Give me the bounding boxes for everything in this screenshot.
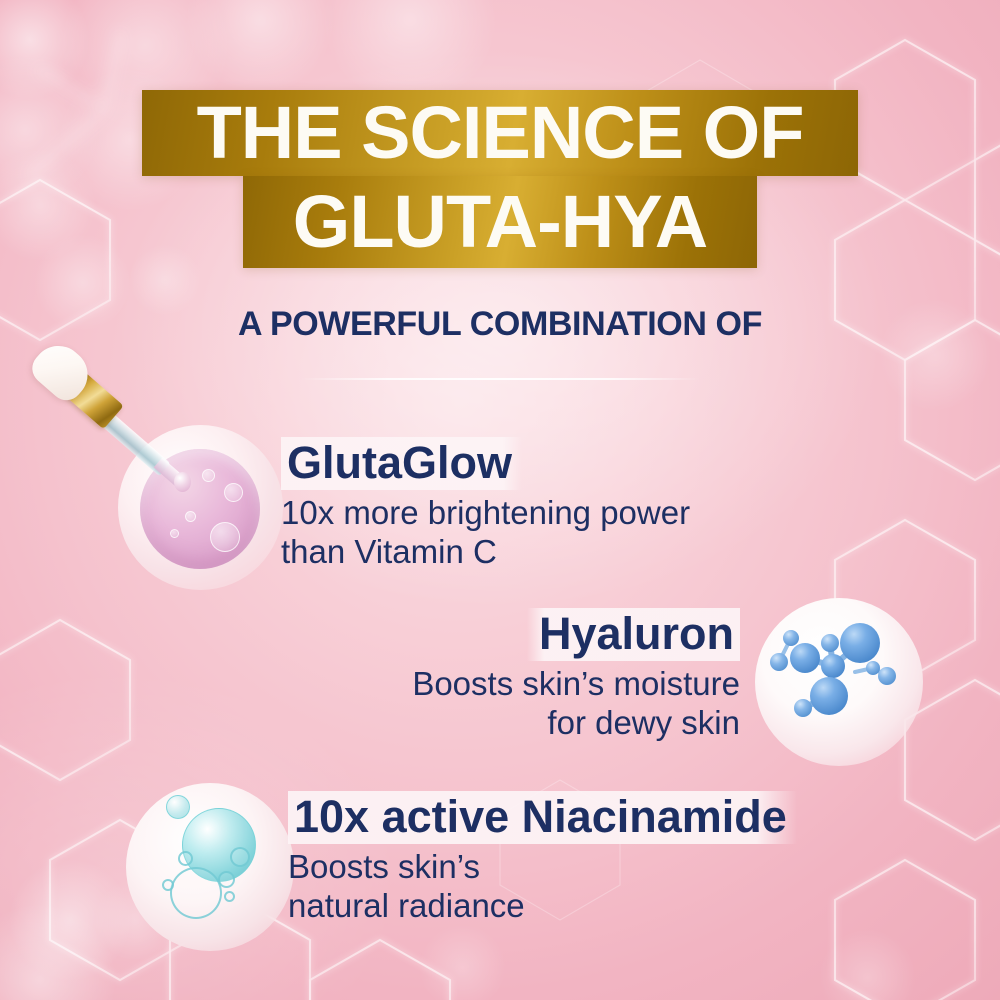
teal-bubble-ring [170,867,222,919]
molecule-atom [790,643,820,673]
molecule-svg [755,598,923,766]
ingredient-block-glutaglow: GlutaGlow 10x more brightening power tha… [281,437,690,571]
dropper-droplet [174,472,191,492]
title-banner-line2: GLUTA-HYA [243,176,757,268]
title-line1-text: THE SCIENCE OF [197,96,804,170]
ingredient-block-hyaluron: Hyaluron Boosts skin’s moisture for dewy… [400,608,740,742]
teal-bubble [166,795,190,819]
title-banner-line1: THE SCIENCE OF [142,90,858,176]
teal-bubble-ring [162,879,174,891]
molecule-atom [783,630,799,646]
teal-bubble-ring [218,871,235,888]
molecule-atom [770,653,788,671]
ingredient-name-glutaglow: GlutaGlow [281,437,522,490]
ingredient-name-niacinamide: 10x active Niacinamide [288,791,797,844]
poster-canvas: THE SCIENCE OF GLUTA-HYA A POWERFUL COMB… [0,0,1000,1000]
ingredient-description-niacinamide: Boosts skin’s natural radiance [288,848,797,925]
molecule-atom [821,654,845,678]
molecule-atom [821,634,839,652]
ingredient-name-hyaluron: Hyaluron [527,608,740,661]
divider-line [300,378,700,380]
ingredient-block-niacinamide: 10x active Niacinamide Boosts skin’s nat… [288,791,797,925]
serum-bubble [170,529,179,538]
molecule-atom [878,667,896,685]
ingredient-description-hyaluron: Boosts skin’s moisture for dewy skin [400,665,740,742]
serum-bubble [224,483,243,502]
molecule-atom [840,623,880,663]
dropper-art [20,340,220,530]
ingredient-description-glutaglow: 10x more brightening power than Vitamin … [281,494,690,571]
teal-bubble-ring [224,891,235,902]
subtitle-text: A POWERFUL COMBINATION OF [0,305,1000,344]
bubble-circle-art [126,783,294,951]
molecule-atom [794,699,812,717]
title-line2-text: GLUTA-HYA [293,185,707,259]
molecule-atom [866,661,880,675]
molecule-atom [810,677,848,715]
teal-bubble-ring [178,851,193,866]
teal-bubble-ring [230,847,250,867]
molecule-circle-art [755,598,923,766]
